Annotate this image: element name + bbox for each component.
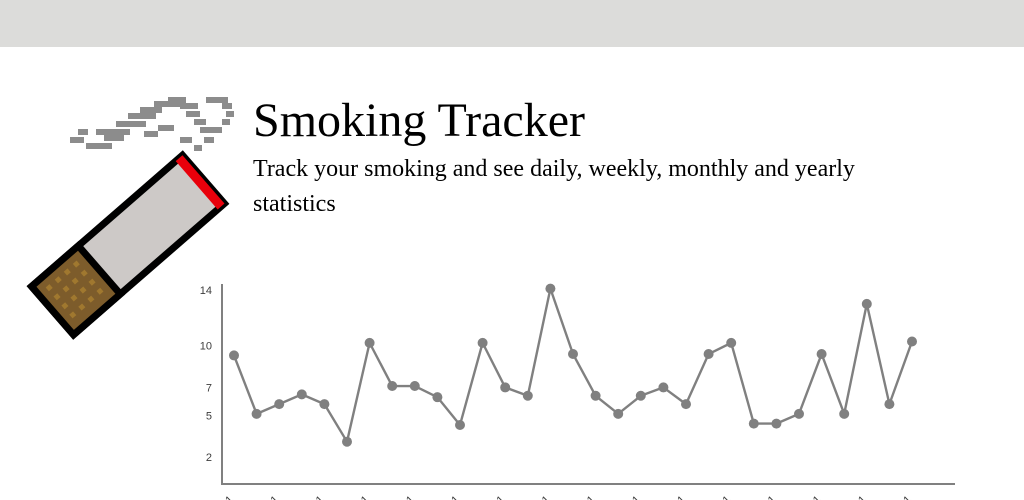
data-point[interactable] [771, 419, 781, 429]
x-axis-tick-label: 29.01 [841, 494, 869, 500]
series-markers [229, 284, 917, 447]
data-point[interactable] [252, 409, 262, 419]
data-point[interactable] [884, 399, 894, 409]
data-point[interactable] [794, 409, 804, 419]
x-axis-tick-label: 09.01 [389, 494, 417, 500]
x-axis-tick-label: 11.01 [435, 494, 462, 500]
x-axis-tick-label: 03.01 [253, 494, 281, 500]
data-point[interactable] [229, 350, 239, 360]
data-point[interactable] [862, 299, 872, 309]
data-point[interactable] [907, 336, 917, 346]
x-axis-tick-label: 25.01 [751, 494, 779, 500]
x-axis-tick-label: 19.01 [615, 494, 643, 500]
x-axis-tick-label: 21.01 [660, 494, 688, 500]
data-point[interactable] [297, 389, 307, 399]
data-point[interactable] [319, 399, 329, 409]
y-axis-tick-labels: 1410752 [200, 285, 212, 464]
y-axis-tick-label: 7 [206, 382, 212, 394]
x-axis-tick-label: 27.01 [796, 494, 824, 500]
smoke-icon [70, 97, 234, 151]
series-line-smoking [234, 289, 912, 442]
data-point[interactable] [432, 392, 442, 402]
data-point[interactable] [658, 382, 668, 392]
x-axis-tick-label: 23.01 [705, 494, 733, 500]
data-point[interactable] [410, 381, 420, 391]
data-point[interactable] [500, 382, 510, 392]
data-point[interactable] [749, 419, 759, 429]
top-status-bar [0, 0, 1024, 47]
x-axis-tick-label: 15.01 [525, 494, 553, 500]
data-point[interactable] [613, 409, 623, 419]
data-point[interactable] [726, 338, 736, 348]
data-point[interactable] [455, 420, 465, 430]
data-point[interactable] [523, 391, 533, 401]
data-point[interactable] [342, 437, 352, 447]
page-title: Smoking Tracker [253, 94, 953, 148]
x-axis-tick-labels: 01.0103.0105.0107.0109.0111.0113.0115.01… [208, 494, 914, 500]
x-axis-tick-label: 05.01 [299, 494, 327, 500]
data-point[interactable] [636, 391, 646, 401]
x-axis-tick-label: 07.01 [344, 494, 372, 500]
x-axis-tick-label: 01.01 [208, 494, 236, 500]
y-axis-tick-label: 2 [206, 452, 212, 464]
y-axis-tick-label: 5 [206, 410, 212, 422]
data-point[interactable] [839, 409, 849, 419]
data-point[interactable] [681, 399, 691, 409]
y-axis-tick-label: 14 [200, 285, 212, 297]
data-point[interactable] [478, 338, 488, 348]
x-axis-tick-label: 17.01 [570, 494, 598, 500]
x-axis-tick-label: 13.01 [479, 494, 507, 500]
hero-section: Smoking Tracker Track your smoking and s… [0, 47, 1024, 500]
data-point[interactable] [365, 338, 375, 348]
data-point[interactable] [817, 349, 827, 359]
data-point[interactable] [704, 349, 714, 359]
page-subtitle: Track your smoking and see daily, weekly… [253, 152, 933, 222]
smoking-line-chart: 1410752 01.0103.0105.0107.0109.0111.0113… [185, 232, 975, 500]
data-point[interactable] [387, 381, 397, 391]
y-axis-tick-label: 10 [200, 341, 212, 353]
x-axis-tick-label: 31.01 [886, 494, 914, 500]
data-point[interactable] [545, 284, 555, 294]
header-text-block: Smoking Tracker Track your smoking and s… [253, 94, 953, 222]
data-point[interactable] [591, 391, 601, 401]
chart-svg: 1410752 01.0103.0105.0107.0109.0111.0113… [185, 232, 975, 500]
data-point[interactable] [568, 349, 578, 359]
data-point[interactable] [274, 399, 284, 409]
